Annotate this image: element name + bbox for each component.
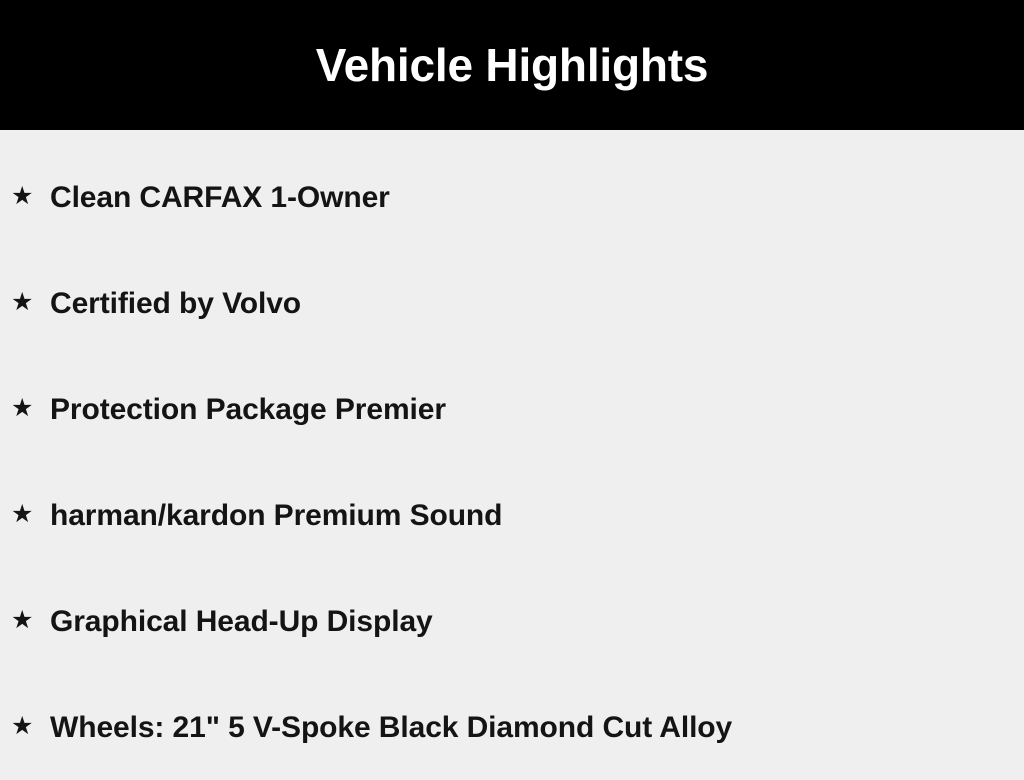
highlight-label: Wheels: 21" 5 V-Spoke Black Diamond Cut … <box>50 711 732 744</box>
vehicle-highlights-list: ★ Clean CARFAX 1-Owner ★ Certified by Vo… <box>0 130 1024 780</box>
list-item: ★ Protection Package Premier <box>0 356 1024 462</box>
star-icon: ★ <box>11 608 50 633</box>
list-item: ★ Clean CARFAX 1-Owner <box>0 144 1024 250</box>
star-icon: ★ <box>11 184 50 209</box>
highlight-label: Clean CARFAX 1-Owner <box>50 181 390 214</box>
highlight-label: Certified by Volvo <box>50 287 301 320</box>
list-item: ★ Graphical Head-Up Display <box>0 568 1024 674</box>
list-item: ★ harman/kardon Premium Sound <box>0 462 1024 568</box>
vehicle-highlights-page: Vehicle Highlights ★ Clean CARFAX 1-Owne… <box>0 0 1024 768</box>
page-title: Vehicle Highlights <box>316 42 709 88</box>
list-item: ★ Certified by Volvo <box>0 250 1024 356</box>
highlight-label: harman/kardon Premium Sound <box>50 499 502 532</box>
page-header: Vehicle Highlights <box>0 0 1024 130</box>
star-icon: ★ <box>11 396 50 421</box>
list-item: ★ Wheels: 21" 5 V-Spoke Black Diamond Cu… <box>0 674 1024 780</box>
star-icon: ★ <box>11 714 50 739</box>
star-icon: ★ <box>11 290 50 315</box>
highlight-label: Graphical Head-Up Display <box>50 605 433 638</box>
star-icon: ★ <box>11 502 50 527</box>
highlight-label: Protection Package Premier <box>50 393 446 426</box>
